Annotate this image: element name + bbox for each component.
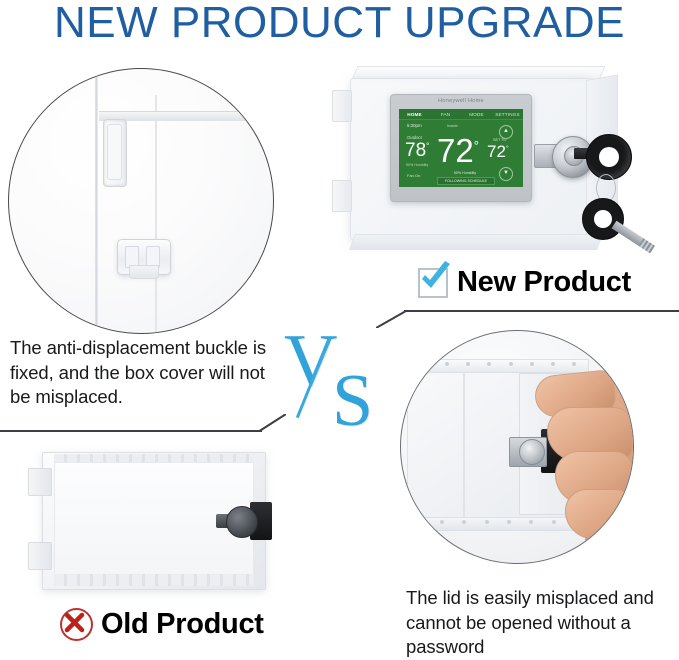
thermostat-tab-bar: HOME FAN MODE SETTINGS	[399, 109, 523, 120]
old-product-divider	[0, 430, 262, 432]
tab-settings[interactable]: SETTINGS	[492, 112, 523, 117]
lockbox-bottom-panel	[349, 234, 603, 250]
new-product-divider	[404, 310, 679, 312]
cover-seam-line	[155, 95, 157, 333]
set-temp-value: 72	[487, 142, 506, 161]
old-product-badge: Old Product	[60, 608, 264, 641]
cover-edge-line	[95, 69, 98, 333]
lockbox-hinge-top	[332, 90, 352, 122]
tab-fan[interactable]: FAN	[430, 112, 461, 117]
new-product-badge-label: New Product	[457, 266, 631, 299]
old-cover-hinge-top	[28, 468, 52, 496]
set-degree-symbol: °	[506, 145, 509, 152]
thermostat-schedule-line: FOLLOWING SCHEDULE	[437, 177, 495, 185]
page-title: NEW PRODUCT UPGRADE	[0, 0, 679, 48]
key-head-spare	[582, 198, 624, 240]
key-head-inserted	[586, 134, 632, 180]
hand-ring-finger	[565, 489, 633, 539]
marketing-image-canvas: NEW PRODUCT UPGRADE Honeywell Home HOME …	[0, 0, 679, 657]
check-tick-icon	[416, 261, 454, 295]
thermostat-outdoor-temp: 78°	[405, 141, 429, 160]
thermostat-time: 5:30pm	[407, 123, 422, 128]
hand-removing-lid-closeup	[400, 330, 634, 564]
anti-displacement-buckle-closeup	[8, 68, 274, 334]
old-product-photo	[24, 444, 292, 596]
buckle-slot-inner	[107, 124, 122, 180]
old-product-badge-label: Old Product	[101, 608, 264, 641]
versus-letter-s: S	[332, 364, 373, 438]
lockbox-hinge-bottom	[332, 180, 352, 212]
thermostat-set-temp: 72°	[487, 143, 509, 160]
old-lock-cam	[226, 506, 258, 538]
outdoor-temp-value: 78	[405, 140, 426, 161]
hand-graphic	[529, 359, 634, 559]
versus-graphic: V S	[280, 330, 390, 440]
right-caption-text: The lid is easily misplaced and cannot b…	[406, 586, 678, 660]
thermostat-current-temp: 72°	[437, 134, 479, 167]
x-circle-icon	[60, 608, 93, 641]
outdoor-degree-symbol: °	[426, 142, 429, 151]
chevron-up-icon[interactable]: ▲	[499, 125, 513, 139]
thermostat-fan-label: Fan On	[407, 173, 420, 178]
x-mark-icon	[64, 612, 85, 633]
new-product-photo: Honeywell Home HOME FAN MODE SETTINGS 5:…	[328, 62, 679, 277]
thermostat-status-line: 50% Humidity	[437, 171, 493, 175]
old-cover-bottom-ribs	[54, 574, 254, 586]
new-product-leader-line	[376, 310, 406, 328]
tab-mode[interactable]: MODE	[461, 112, 492, 117]
thermostat-screen: HOME FAN MODE SETTINGS 5:30pm Inside Out…	[399, 109, 523, 187]
thermostat-inside-label: Inside	[447, 123, 458, 128]
tab-home[interactable]: HOME	[399, 112, 430, 117]
key-blade-spare	[612, 221, 655, 254]
chevron-down-icon[interactable]: ▼	[499, 167, 513, 181]
thermostat-device: Honeywell Home HOME FAN MODE SETTINGS 5:…	[390, 94, 532, 202]
thermostat-outdoor-humidity: 50% Humidity	[406, 163, 428, 167]
left-caption-text: The anti-displacement buckle is fixed, a…	[10, 336, 282, 410]
buckle-tab	[129, 265, 159, 279]
thermostat-brand-label: Honeywell Home	[391, 98, 531, 104]
old-cover-hinge-bottom	[28, 542, 52, 570]
current-temp-value: 72	[437, 132, 474, 169]
cover-panel-seam	[463, 371, 465, 519]
new-product-badge: New Product	[418, 266, 631, 299]
current-degree-symbol: °	[474, 138, 479, 153]
checkbox-checked-icon	[418, 268, 448, 298]
